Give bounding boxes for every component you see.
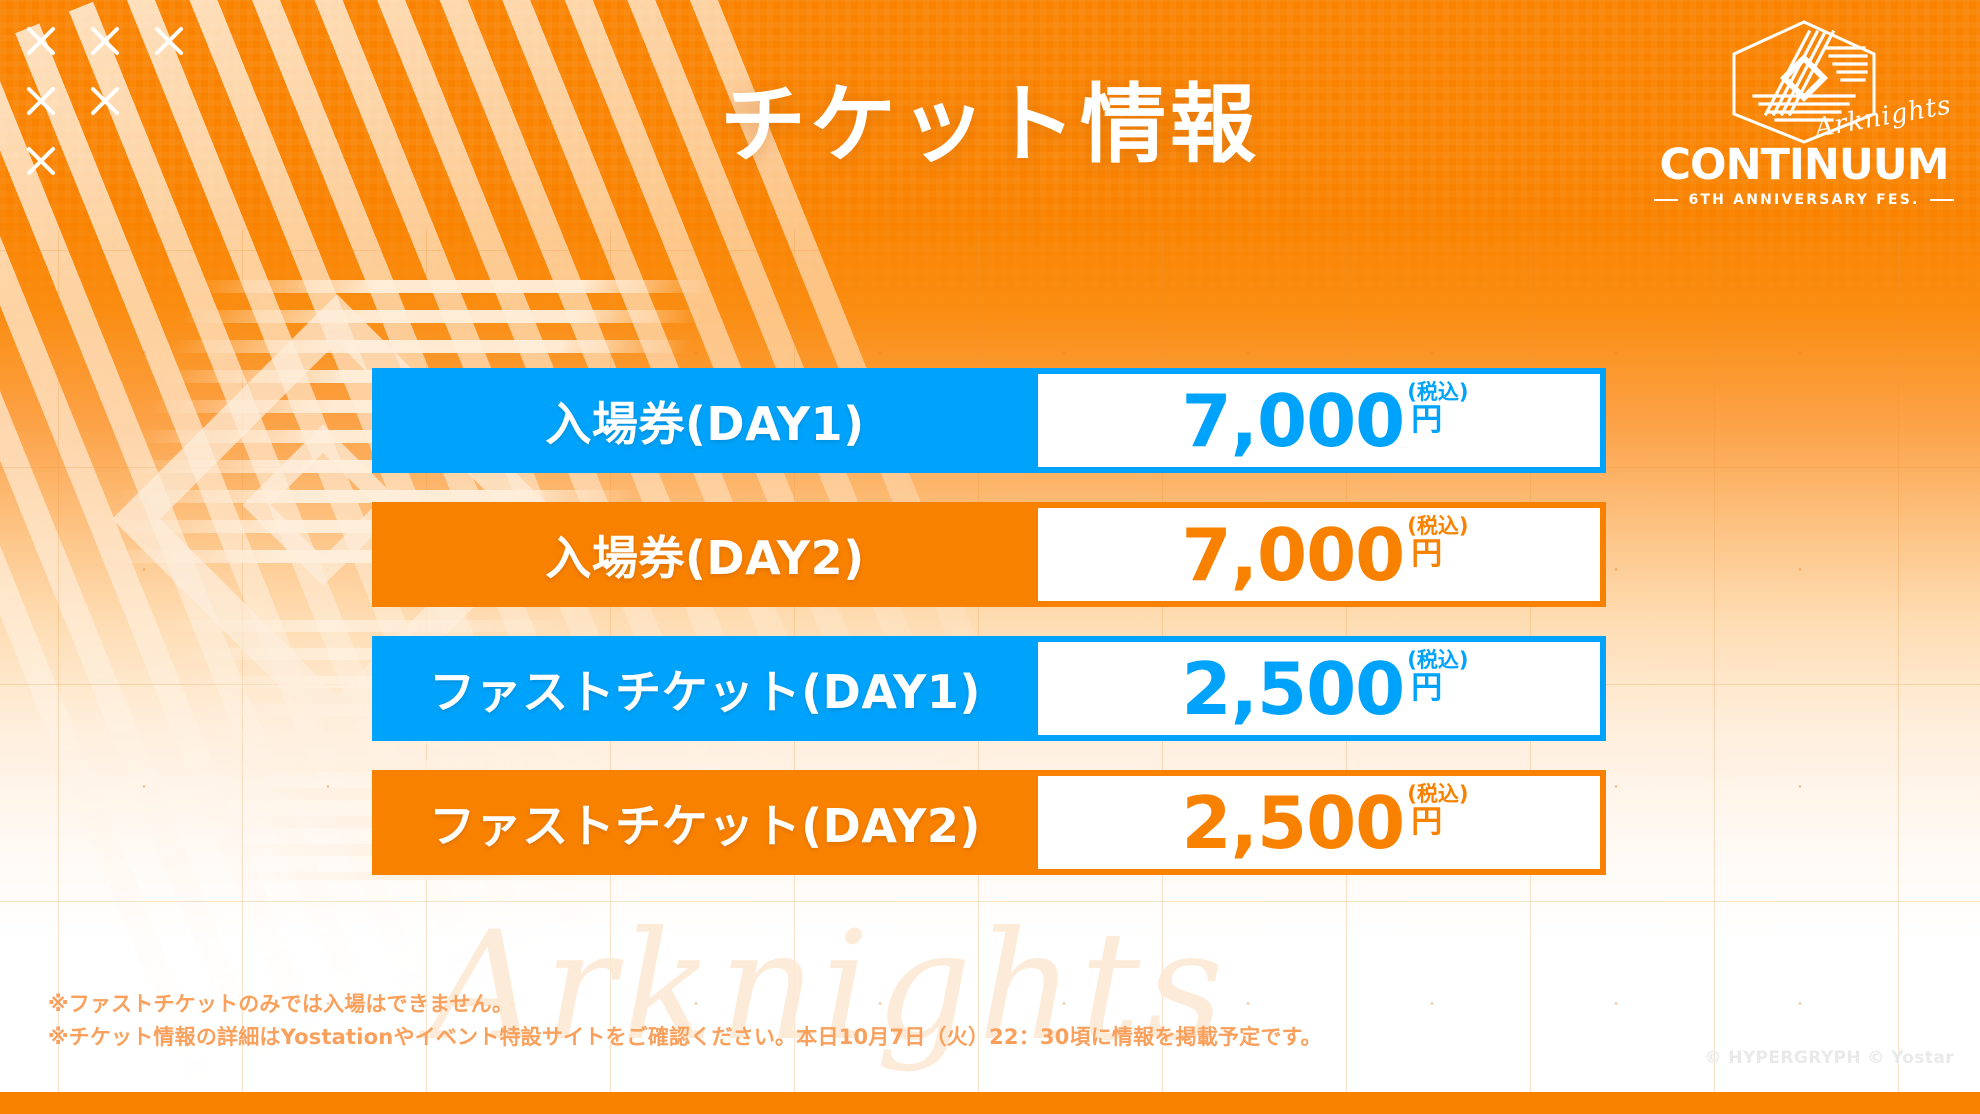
- ticket-name: ファストチケット(DAY1): [372, 636, 1038, 741]
- price-tax-note: (税込): [1407, 515, 1468, 537]
- price-amount: 2,500: [1182, 653, 1405, 725]
- price-amount: 2,500: [1182, 787, 1405, 859]
- ticket-name: ファストチケット(DAY2): [372, 770, 1038, 875]
- ticket-name: 入場券(DAY1): [372, 368, 1038, 473]
- price-currency: 円: [1411, 539, 1442, 570]
- price-unit-stack: (税込) 円: [1407, 381, 1468, 436]
- rule-right-icon: [1930, 199, 1954, 201]
- table-row: ファストチケット(DAY2) 2,500 (税込) 円: [372, 770, 1606, 875]
- table-row: 入場券(DAY1) 7,000 (税込) 円: [372, 368, 1606, 473]
- price-currency: 円: [1411, 673, 1442, 704]
- table-row: ファストチケット(DAY1) 2,500 (税込) 円: [372, 636, 1606, 741]
- price-amount: 7,000: [1182, 385, 1405, 457]
- price-unit-stack: (税込) 円: [1407, 649, 1468, 704]
- price-unit-stack: (税込) 円: [1407, 783, 1468, 838]
- bottom-accent-bar: [0, 1092, 1980, 1114]
- rule-left-icon: [1654, 199, 1678, 201]
- footnote-item: ※チケット情報の詳細はYostationやイベント特設サイトをご確認ください。本…: [48, 1021, 1322, 1054]
- ticket-price-cell: 2,500 (税込) 円: [1038, 636, 1606, 741]
- price-figure: 2,500 (税込) 円: [1182, 653, 1469, 725]
- price-tax-note: (税込): [1407, 381, 1468, 403]
- logo-wordmark: CONTINUUM: [1654, 144, 1954, 187]
- price-figure: 2,500 (税込) 円: [1182, 787, 1469, 859]
- price-amount: 7,000: [1182, 519, 1405, 591]
- price-figure: 7,000 (税込) 円: [1182, 519, 1469, 591]
- price-figure: 7,000 (税込) 円: [1182, 385, 1469, 457]
- ticket-price-cell: 2,500 (税込) 円: [1038, 770, 1606, 875]
- footnote-item: ※ファストチケットのみでは入場はできません。: [48, 988, 1322, 1021]
- price-tax-note: (税込): [1407, 783, 1468, 805]
- price-currency: 円: [1411, 405, 1442, 436]
- ticket-name: 入場券(DAY2): [372, 502, 1038, 607]
- event-logo: Arknights CONTINUUM 6TH ANNIVERSARY FES.: [1654, 18, 1954, 218]
- price-currency: 円: [1411, 807, 1442, 838]
- table-row: 入場券(DAY2) 7,000 (税込) 円: [372, 502, 1606, 607]
- footnote-list: ※ファストチケットのみでは入場はできません。 ※チケット情報の詳細はYostat…: [48, 988, 1322, 1053]
- price-tax-note: (税込): [1407, 649, 1468, 671]
- copyright-text: © HYPERGRYPH © Yostar: [1705, 1048, 1955, 1068]
- ticket-price-table: 入場券(DAY1) 7,000 (税込) 円 入場券(DAY2) 7,000 (…: [372, 368, 1606, 875]
- logo-subline: 6TH ANNIVERSARY FES.: [1654, 192, 1954, 208]
- logo-subline-text: 6TH ANNIVERSARY FES.: [1688, 192, 1919, 208]
- slide-root: Arknights チケット情報: [0, 0, 1980, 1114]
- ticket-price-cell: 7,000 (税込) 円: [1038, 502, 1606, 607]
- ticket-price-cell: 7,000 (税込) 円: [1038, 368, 1606, 473]
- price-unit-stack: (税込) 円: [1407, 515, 1468, 570]
